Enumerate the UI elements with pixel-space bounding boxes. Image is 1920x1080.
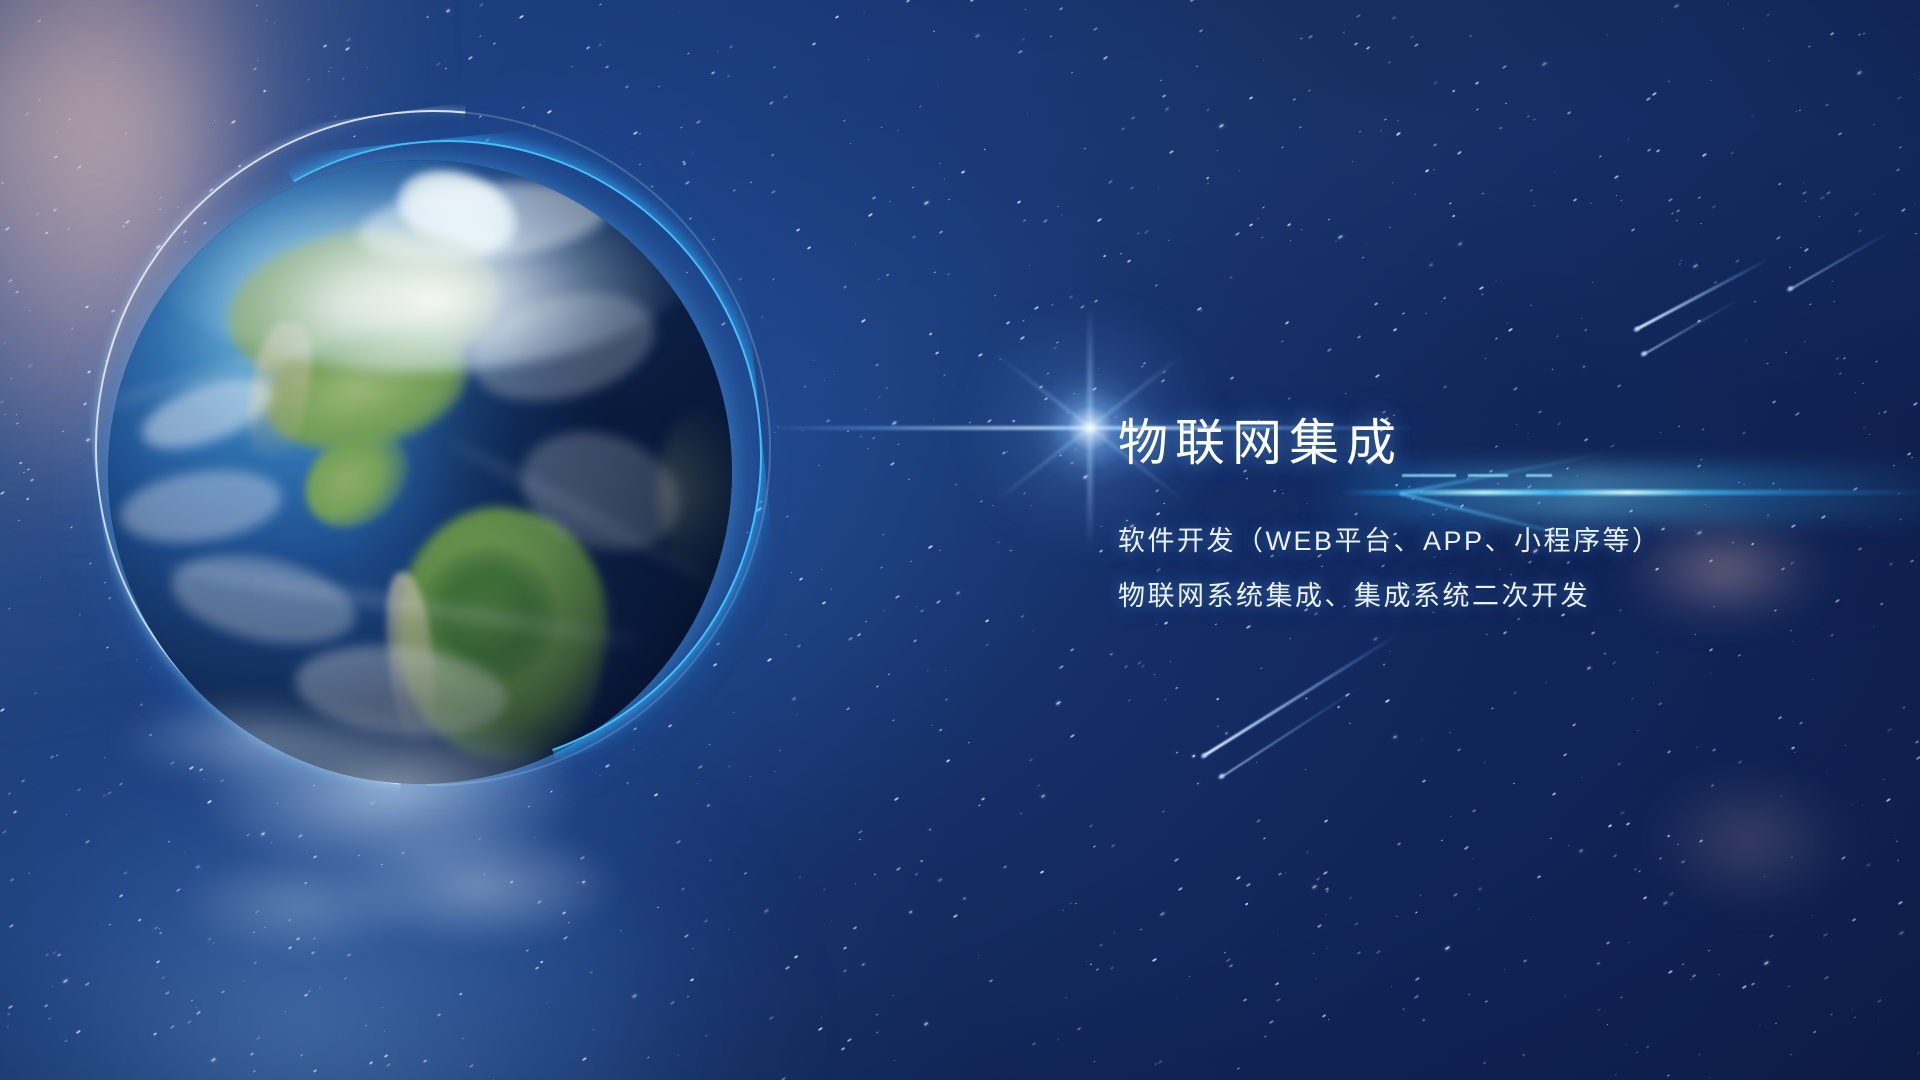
page-title: 物联网集成 — [1118, 418, 1858, 468]
pink-haze-lower — [1600, 730, 1900, 950]
banner-copy: 物联网集成 软件开发（WEB平台、APP、小程序等） 物联网系统集成、集成系统二… — [1118, 418, 1858, 610]
hero-banner: 物联网集成 软件开发（WEB平台、APP、小程序等） 物联网系统集成、集成系统二… — [0, 0, 1920, 1080]
cloud-reflection-outer — [60, 640, 440, 840]
subtitle-line-1: 软件开发（WEB平台、APP、小程序等） — [1118, 528, 1858, 555]
subtitle-line-2: 物联网系统集成、集成系统二次开发 — [1118, 583, 1858, 610]
